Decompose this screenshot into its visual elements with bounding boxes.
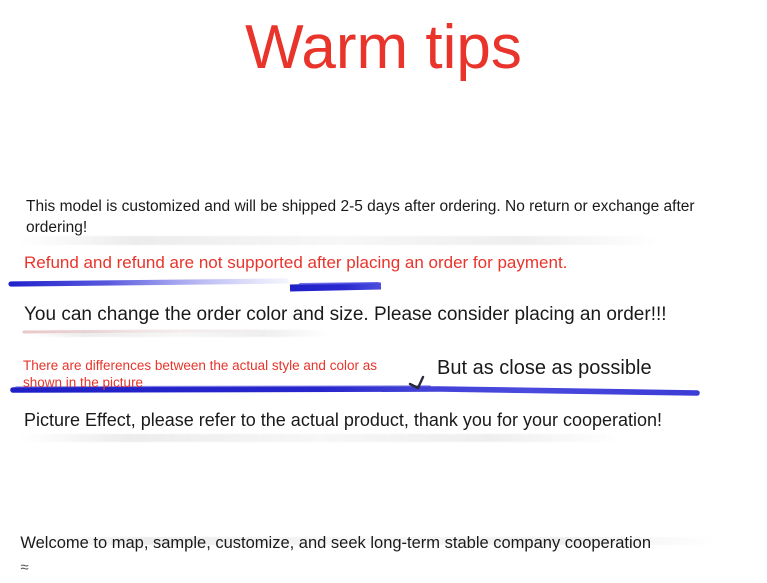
tilde-glyph: ≈ — [20, 558, 28, 578]
blue-marker-stroke-refund-short-highlight — [300, 283, 378, 284]
welcome-note-text: Welcome to map, sample, customize, and s… — [20, 534, 651, 552]
blue-marker-stroke-refund-long — [11, 281, 286, 284]
welcome-note-line: Welcome to map, sample, customize, and s… — [2, 512, 651, 583]
slide-canvas: Warm tips — [0, 0, 767, 583]
blue-marker-stroke-refund-short — [290, 286, 381, 288]
ink-annotation-layer — [0, 0, 767, 583]
change-order-note-text: You can change the order color and size.… — [24, 303, 667, 328]
refund-note-text: Refund and refund are not supported afte… — [24, 252, 567, 274]
faint-pink-stroke-change — [24, 330, 300, 332]
shipping-note-text: This model is customized and will be shi… — [26, 197, 752, 239]
difference-note-text: There are differences between the actual… — [23, 357, 413, 392]
close-as-possible-text: But as close as possible — [437, 355, 652, 381]
picture-effect-note-text: Picture Effect, please refer to the actu… — [24, 409, 662, 432]
